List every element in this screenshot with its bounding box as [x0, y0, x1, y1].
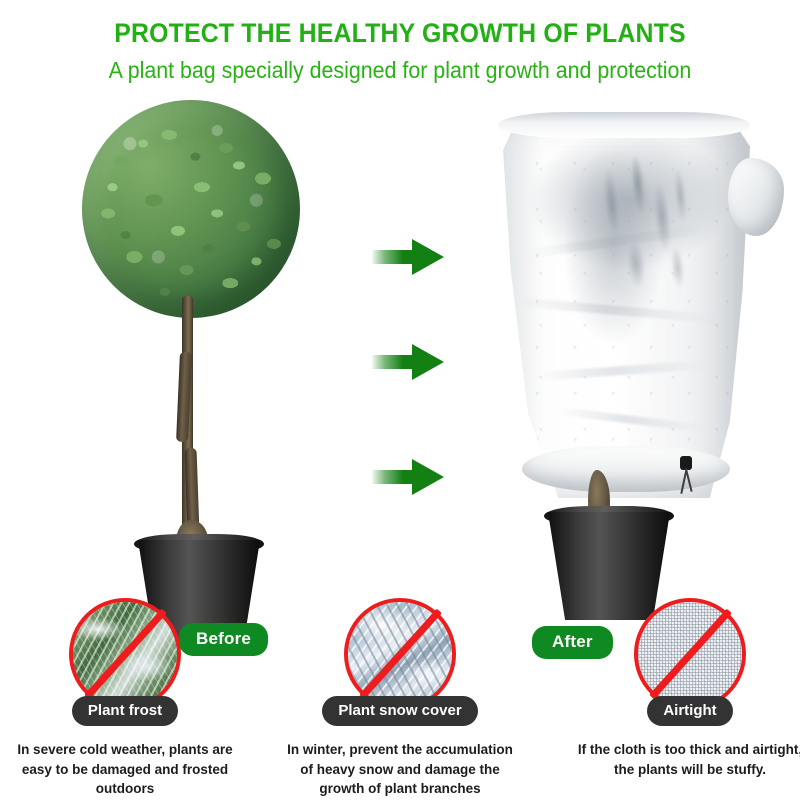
before-badge: Before [179, 623, 268, 656]
airtight-fabric-icon [634, 598, 746, 710]
plant-snow-cover-icon [344, 598, 456, 710]
before-plant-illustration: Before [60, 100, 350, 570]
feature-caption: If the cloth is too thick and airtight, … [575, 740, 800, 779]
feature-pill-label: Plant snow cover [322, 696, 477, 726]
arrow-shaft [372, 470, 416, 484]
infographic-page: PROTECT THE HEALTHY GROWTH OF PLANTS A p… [0, 0, 800, 800]
arrow-head [412, 239, 444, 275]
bag-top-opening [498, 112, 750, 138]
feature-pill-label: Plant frost [72, 696, 178, 726]
bag-side-gather [728, 158, 784, 236]
after-plant-illustration: After [470, 110, 790, 570]
feature-plant-snow-cover: Plant snow cover In winter, prevent the … [285, 598, 515, 799]
fabric-fold [558, 407, 708, 433]
feature-airtight: Airtight If the cloth is too thick and a… [575, 598, 800, 779]
page-subtitle: A plant bag specially designed for plant… [28, 57, 772, 84]
feature-caption: In winter, prevent the accumulation of h… [285, 740, 515, 799]
plant-frost-icon [69, 598, 181, 710]
arrow-shaft [372, 250, 416, 264]
fabric-fold [538, 360, 708, 381]
transition-arrow-icon [372, 458, 444, 496]
tree-canopy-icon [82, 100, 300, 318]
arrow-shaft [372, 355, 416, 369]
plant-protection-bag [498, 116, 750, 498]
arrow-head [412, 344, 444, 380]
arrow-head [412, 459, 444, 495]
transition-arrow-icon [372, 343, 444, 381]
page-title: PROTECT THE HEALTHY GROWTH OF PLANTS [32, 18, 768, 49]
after-badge: After [532, 626, 613, 659]
transition-arrow-icon [372, 238, 444, 276]
bag-bottom-hem [522, 446, 730, 492]
feature-caption: In severe cold weather, plants are easy … [10, 740, 240, 799]
feature-pill-label: Airtight [647, 696, 732, 726]
